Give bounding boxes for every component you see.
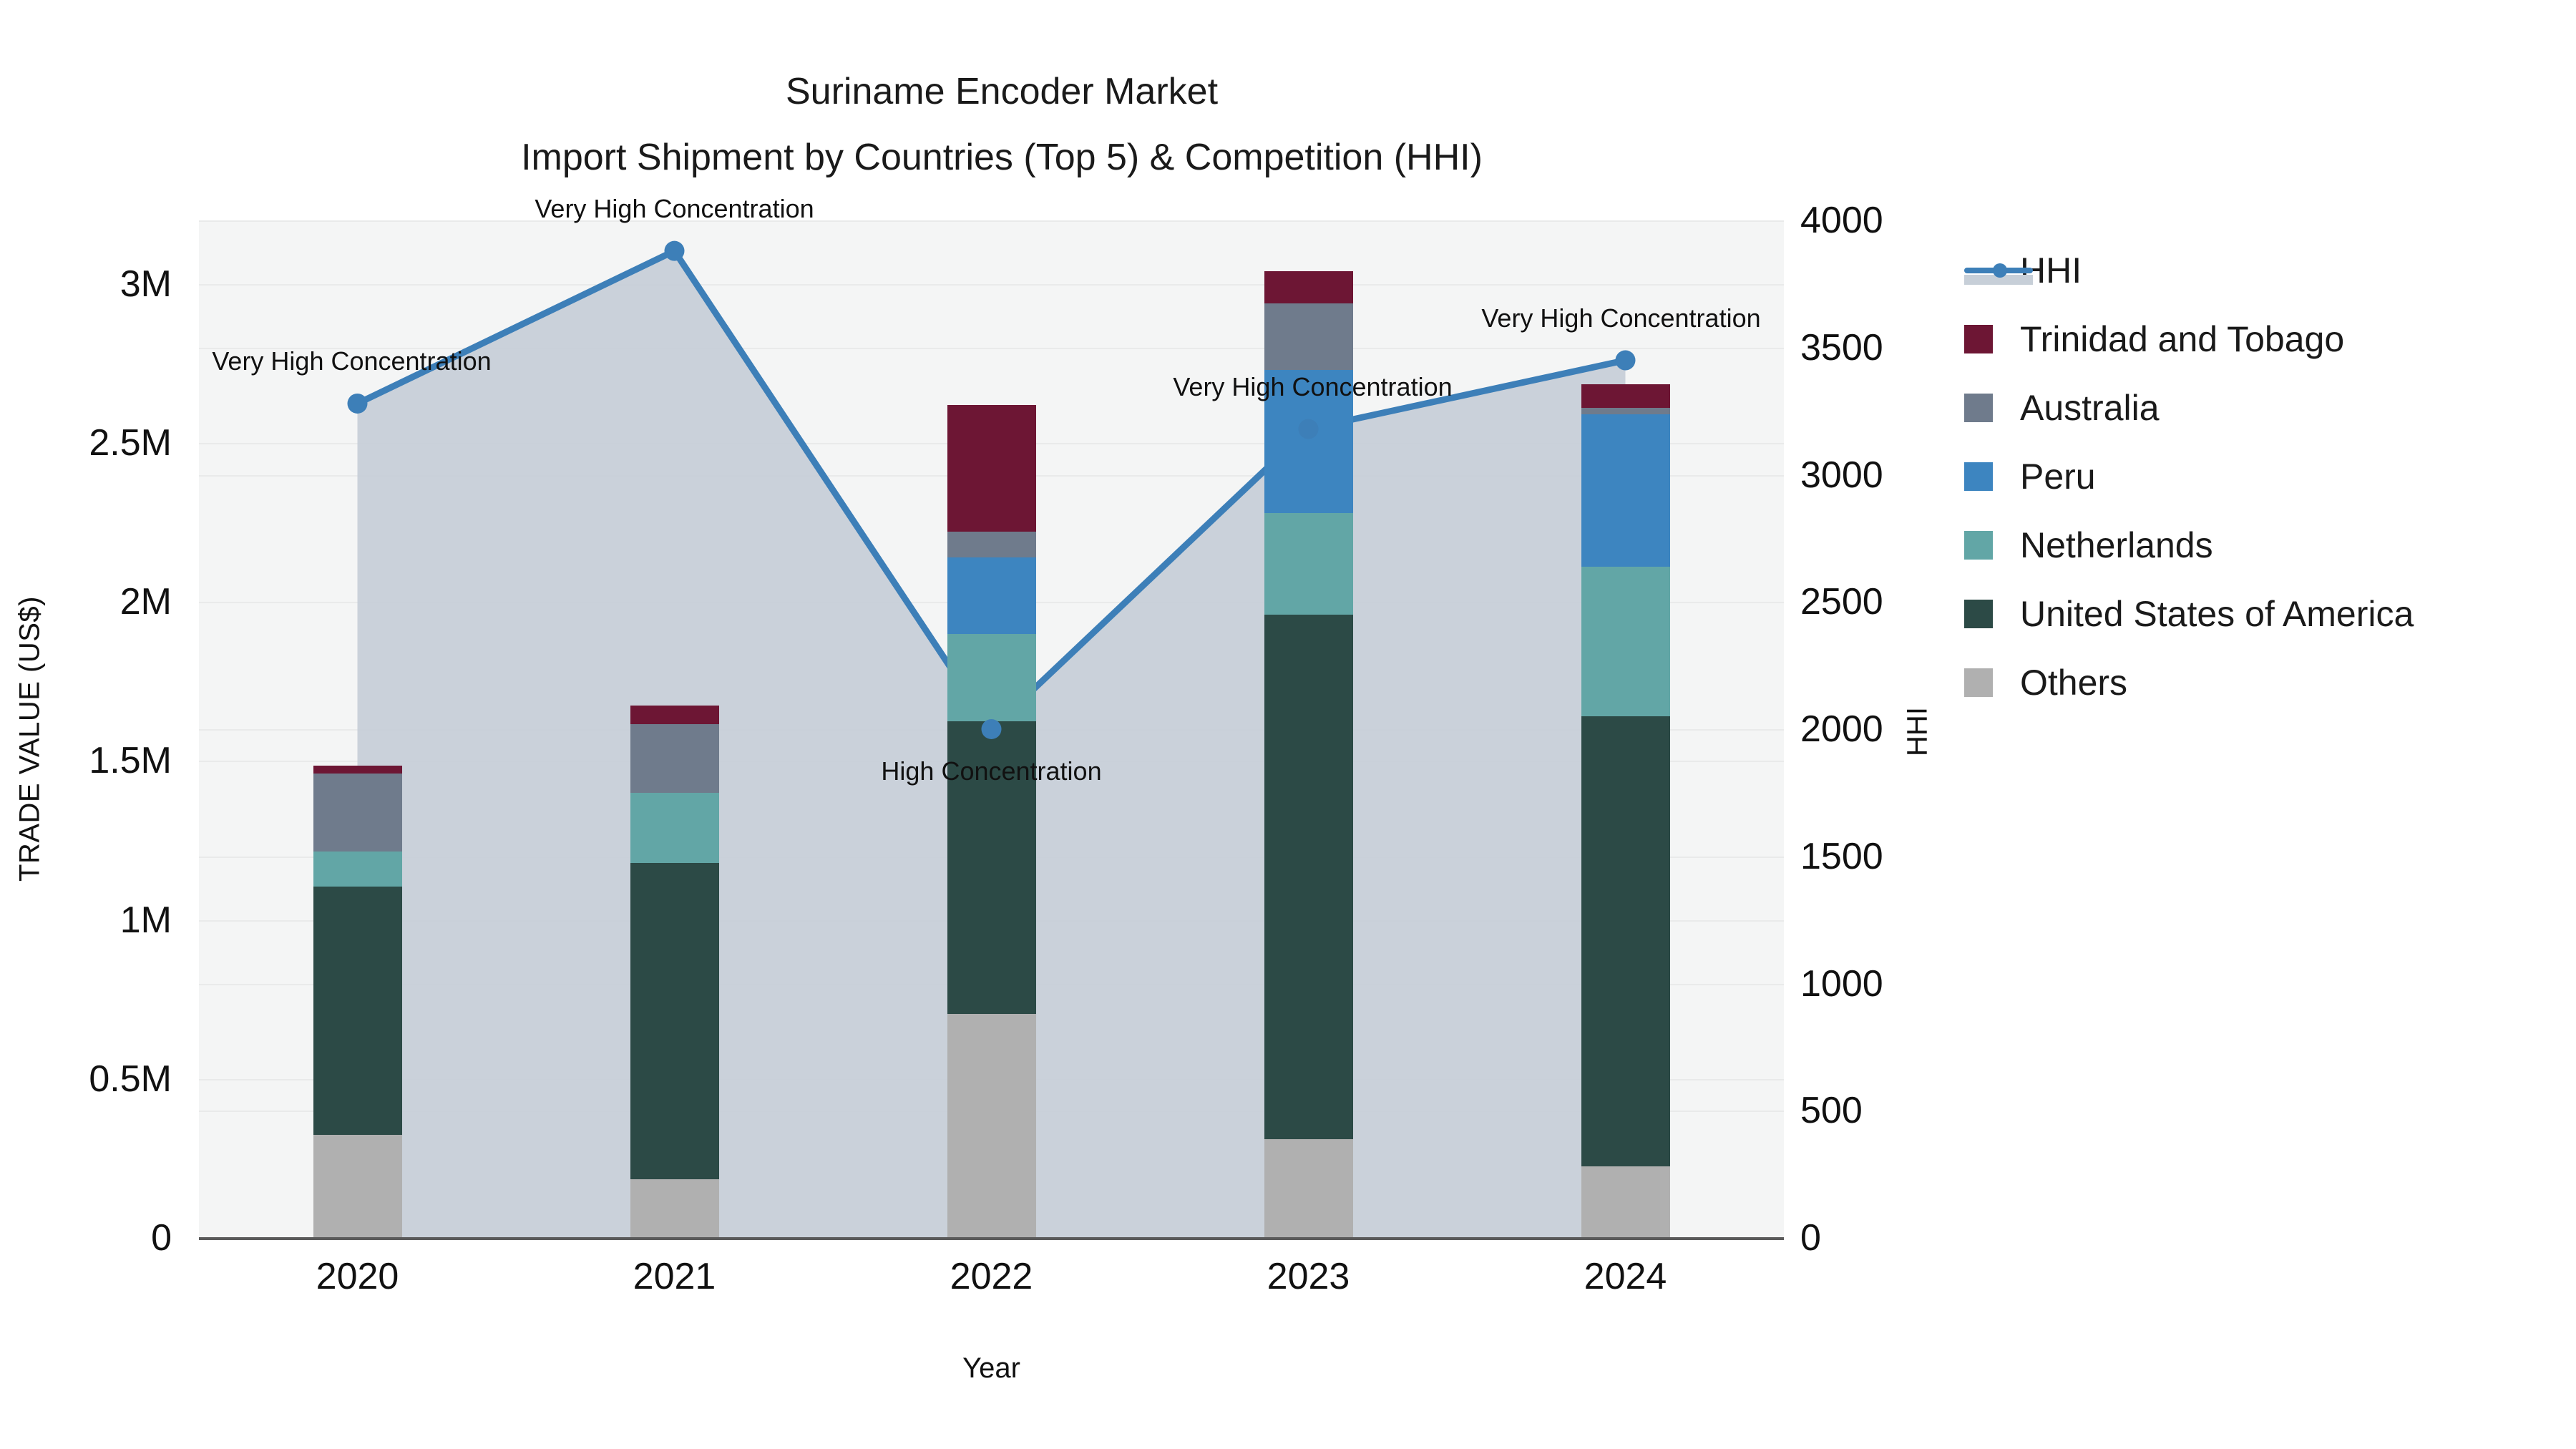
chart-subtitle: Import Shipment by Countries (Top 5) & C… [0, 125, 2004, 190]
y-axis-left-label: TRADE VALUE (US$) [14, 539, 47, 940]
hhi-marker-2024[interactable] [1616, 351, 1636, 371]
y-tick-left: 0 [151, 1216, 172, 1259]
legend-item-label: Others [2020, 662, 2127, 703]
y-tick-right: 2000 [1800, 708, 1883, 751]
legend-item-peru[interactable]: Peru [1964, 442, 2414, 511]
hhi-marker-2020[interactable] [348, 394, 368, 414]
y-tick-left: 1.5M [89, 739, 172, 782]
hhi-marker-2021[interactable] [665, 241, 685, 261]
y-tick-right: 1000 [1800, 962, 1883, 1005]
x-tick-2021: 2021 [633, 1255, 716, 1298]
x-tick-2024: 2024 [1584, 1255, 1667, 1298]
chart-title-block: Suriname Encoder Market Import Shipment … [0, 59, 2004, 190]
legend: HHITrinidad and TobagoAustraliaPeruNethe… [1964, 236, 2414, 717]
y-tick-right: 0 [1800, 1216, 1821, 1259]
y-tick-left: 0.5M [89, 1058, 172, 1101]
legend-item-australia[interactable]: Australia [1964, 374, 2414, 442]
chart-title: Suriname Encoder Market [0, 59, 2004, 125]
y-tick-left: 1M [120, 899, 172, 942]
legend-swatch-icon [1964, 531, 1993, 560]
legend-item-others[interactable]: Others [1964, 648, 2414, 717]
legend-item-label: United States of America [2020, 593, 2414, 635]
y-tick-right: 3000 [1800, 454, 1883, 497]
hhi-markers [199, 220, 1784, 1238]
y-tick-left: 2.5M [89, 421, 172, 464]
legend-swatch-icon [1964, 462, 1993, 491]
chart-root: Suriname Encoder Market Import Shipment … [0, 0, 2576, 1449]
y-tick-right: 4000 [1800, 199, 1883, 242]
legend-item-label: Australia [2020, 387, 2160, 429]
y-tick-right: 3500 [1800, 326, 1883, 369]
y-tick-right: 500 [1800, 1089, 1863, 1132]
hhi-annotation-2021: Very High Concentration [535, 194, 814, 224]
y-tick-right: 2500 [1800, 580, 1883, 623]
x-tick-2020: 2020 [316, 1255, 399, 1298]
x-axis-label: Year [199, 1352, 1784, 1385]
legend-item-trinidad-and-tobago[interactable]: Trinidad and Tobago [1964, 305, 2414, 374]
y-tick-left: 3M [120, 263, 172, 306]
x-tick-2023: 2023 [1267, 1255, 1350, 1298]
legend-swatch-icon [1964, 394, 1993, 422]
y-tick-left: 2M [120, 580, 172, 623]
legend-item-netherlands[interactable]: Netherlands [1964, 511, 2414, 580]
legend-item-united-states-of-america[interactable]: United States of America [1964, 580, 2414, 648]
legend-swatch-icon [1964, 668, 1993, 697]
legend-line-icon [1964, 256, 2033, 285]
hhi-marker-2022[interactable] [982, 719, 1002, 739]
legend-swatch-icon [1964, 325, 1993, 353]
legend-item-label: Peru [2020, 456, 2096, 497]
y-tick-right: 1500 [1800, 835, 1883, 878]
x-tick-2022: 2022 [950, 1255, 1033, 1298]
legend-swatch-icon [1964, 600, 1993, 628]
legend-item-hhi[interactable]: HHI [1964, 236, 2414, 305]
legend-item-label: Netherlands [2020, 525, 2213, 566]
hhi-marker-2023[interactable] [1299, 419, 1319, 439]
legend-item-label: Trinidad and Tobago [2020, 318, 2344, 360]
y-axis-right-label: HHI [1902, 646, 1934, 818]
